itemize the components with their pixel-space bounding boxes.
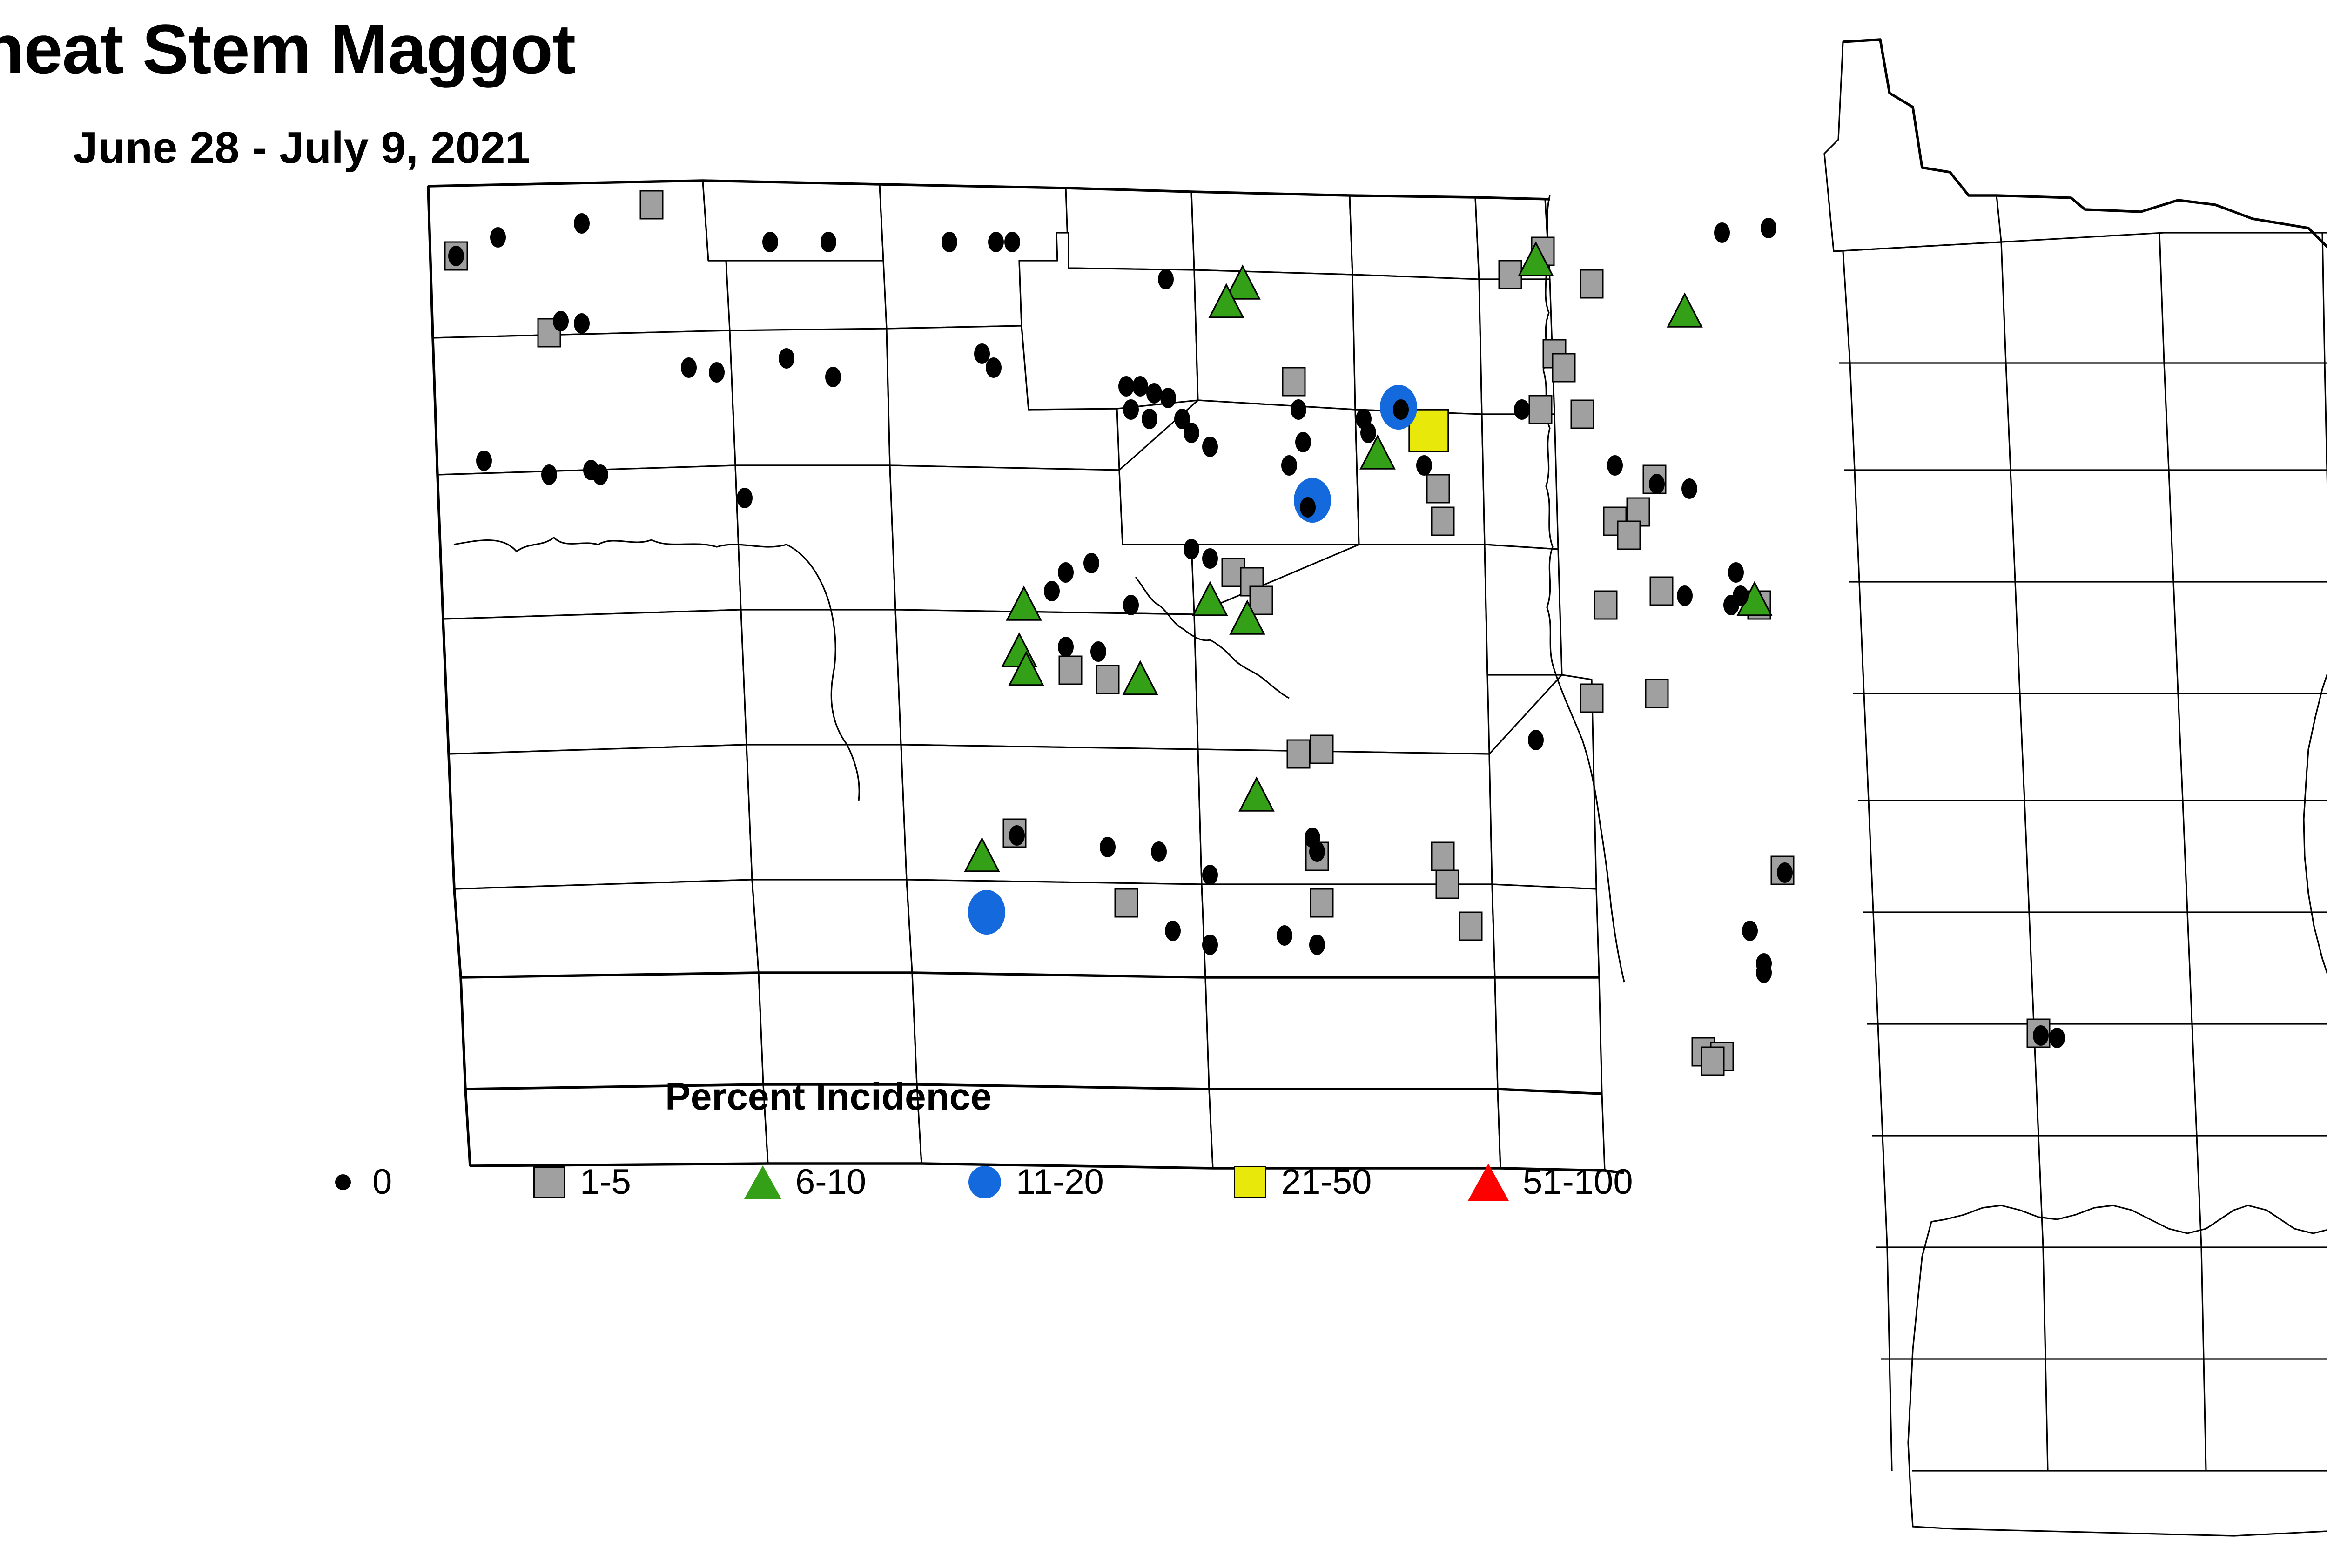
map-marker-dot xyxy=(1528,730,1544,750)
map-marker-square-gray xyxy=(1436,870,1459,898)
legend-swatch-square-gray-icon xyxy=(533,1166,565,1198)
map-marker-dot xyxy=(737,488,753,508)
map-marker-dot xyxy=(1202,548,1218,569)
map-marker-dot xyxy=(988,232,1004,252)
north-dakota-counties xyxy=(428,181,1599,977)
map-marker-square-gray xyxy=(1432,507,1454,535)
map-marker-dot xyxy=(762,232,778,252)
legend-item-21-50: 21-50 xyxy=(1231,1154,1372,1210)
map-marker-square-gray xyxy=(1096,666,1119,693)
map-marker-square-gray xyxy=(1250,586,1272,614)
map-marker-dot xyxy=(1677,585,1693,606)
map-marker-dot xyxy=(1004,232,1020,252)
map-marker-square-gray xyxy=(1427,475,1449,503)
map-marker-dot xyxy=(1132,376,1148,397)
map-marker-square-gray xyxy=(1553,354,1575,382)
map-marker-dot xyxy=(1184,539,1199,559)
map-marker-dot xyxy=(709,362,725,383)
map-marker-dot xyxy=(1202,865,1218,885)
minnesota-counties xyxy=(1824,40,2327,1536)
south-dakota-counties xyxy=(461,973,1605,1171)
legend-label-11-20: 11-20 xyxy=(1016,1164,1104,1200)
map-marker-dot xyxy=(821,232,836,252)
map-marker-dot xyxy=(1681,478,1697,499)
legend-swatch-circle-blue-icon xyxy=(968,1166,1001,1198)
legend-item-0: 0 xyxy=(326,1154,392,1210)
map-marker-square-gray xyxy=(1580,684,1603,712)
map-marker-dot xyxy=(1100,837,1116,857)
map-marker-dot xyxy=(1146,383,1162,404)
map-marker-dot xyxy=(1058,637,1074,657)
map-marker-square-gray xyxy=(1650,577,1673,605)
legend-label-1-5: 1-5 xyxy=(580,1164,631,1200)
map-marker-dot xyxy=(1309,935,1325,955)
map-marker-square-gray xyxy=(1580,270,1603,298)
map-canvas xyxy=(0,0,2327,1568)
map-marker-square-gray xyxy=(1702,1047,1724,1075)
map-marker-dot xyxy=(1416,455,1432,476)
map-marker-triangle-green xyxy=(1193,583,1227,615)
map-marker-triangle-green xyxy=(1668,294,1702,327)
map-marker-square-gray xyxy=(1571,400,1594,428)
map-marker-dot xyxy=(1158,269,1174,289)
map-marker-dot xyxy=(1309,841,1325,862)
map-marker-dot xyxy=(779,348,794,369)
map-marker-dot xyxy=(1291,399,1306,420)
map-marker-square-gray xyxy=(1059,656,1082,684)
map-marker-square-gray xyxy=(1115,889,1137,917)
map-marker-dot xyxy=(1151,841,1167,862)
map-marker-dot xyxy=(1090,641,1106,662)
map-marker-dot xyxy=(583,460,599,480)
legend-label-6-10: 6-10 xyxy=(795,1164,866,1200)
map-marker-square-gray xyxy=(1646,680,1668,707)
map-marker-dot xyxy=(1281,455,1297,476)
map-marker-dot xyxy=(1277,925,1292,946)
legend-title: Percent Incidence xyxy=(521,1075,1136,1119)
map-marker-dot xyxy=(1756,962,1772,983)
map-marker-square-gray xyxy=(1311,735,1333,763)
map-marker-dot xyxy=(1514,399,1530,420)
map-marker-dot xyxy=(942,232,957,252)
map-marker-dot xyxy=(1300,497,1316,518)
map-marker-dot xyxy=(1202,437,1218,457)
map-marker-dot xyxy=(1184,423,1199,443)
map-marker-dot xyxy=(490,227,506,248)
map-marker-dot xyxy=(1742,921,1758,941)
map-marker-dot xyxy=(1728,562,1744,583)
map-marker-dot xyxy=(476,451,492,471)
map-marker-square-gray xyxy=(1499,261,1521,289)
legend-label-21-50: 21-50 xyxy=(1281,1164,1372,1200)
map-marker-dot xyxy=(1777,862,1793,883)
map-marker-dot xyxy=(1165,921,1181,941)
map-marker-dot xyxy=(1723,595,1739,615)
map-figure: Wheat Stem Maggot June 28 - July 9, 2021 xyxy=(0,0,2327,1568)
map-marker-square-gray xyxy=(1618,521,1640,549)
map-marker-dot xyxy=(1360,423,1376,443)
map-marker-dot xyxy=(974,343,990,364)
map-marker-dot xyxy=(2049,1028,2065,1048)
legend-label-51-100: 51-100 xyxy=(1523,1164,1633,1200)
map-marker-dot xyxy=(574,213,590,234)
map-marker-square-gray xyxy=(640,191,663,219)
map-marker-dot xyxy=(1083,553,1099,573)
map-marker-dot xyxy=(1118,376,1134,397)
map-marker-dot xyxy=(541,464,557,485)
map-marker-dot xyxy=(574,313,590,334)
map-marker-circle-blue xyxy=(968,890,1005,935)
map-marker-dot xyxy=(986,357,1002,378)
map-marker-dot xyxy=(1202,935,1218,955)
map-marker-dot xyxy=(2033,1025,2049,1046)
map-marker-dot xyxy=(825,367,841,387)
legend-label-0: 0 xyxy=(372,1164,392,1200)
map-marker-dot xyxy=(1009,825,1025,846)
legend-swatch-triangle-green-icon xyxy=(744,1165,781,1199)
map-marker-dot xyxy=(1295,432,1311,452)
legend-item-1-5: 1-5 xyxy=(531,1154,631,1210)
legend-item-11-20: 11-20 xyxy=(966,1154,1104,1210)
legend-swatch-circle-black-icon xyxy=(335,1174,351,1190)
map-marker-dot xyxy=(1123,399,1139,420)
map-marker-dot xyxy=(681,357,697,378)
map-marker-square-gray xyxy=(1459,912,1482,940)
legend-swatch-triangle-red-icon xyxy=(1468,1164,1509,1201)
map-marker-square-gray xyxy=(1311,889,1333,917)
map-marker-dot xyxy=(1607,455,1623,476)
map-marker-dot xyxy=(448,246,464,266)
map-marker-square-gray xyxy=(1287,740,1310,768)
map-marker-square-gray xyxy=(1529,396,1552,424)
map-marker-dot xyxy=(1714,222,1730,243)
map-marker-dot xyxy=(1044,581,1060,601)
legend-swatch-square-yellow-icon xyxy=(1234,1166,1266,1198)
map-marker-dot xyxy=(1123,595,1139,615)
map-marker-dot xyxy=(1160,388,1176,408)
map-marker-dot xyxy=(1393,399,1409,420)
map-marker-square-gray xyxy=(1432,842,1454,870)
map-marker-square-gray xyxy=(1283,368,1305,396)
map-marker-dot xyxy=(553,311,569,331)
legend-item-6-10: 6-10 xyxy=(742,1154,866,1210)
map-marker-dot xyxy=(1142,409,1157,429)
map-marker-dot xyxy=(1761,218,1776,238)
map-marker-square-gray xyxy=(1594,591,1617,619)
legend-item-51-100: 51-100 xyxy=(1466,1154,1633,1210)
map-marker-dot xyxy=(1649,474,1665,494)
map-marker-dot xyxy=(1058,562,1074,583)
